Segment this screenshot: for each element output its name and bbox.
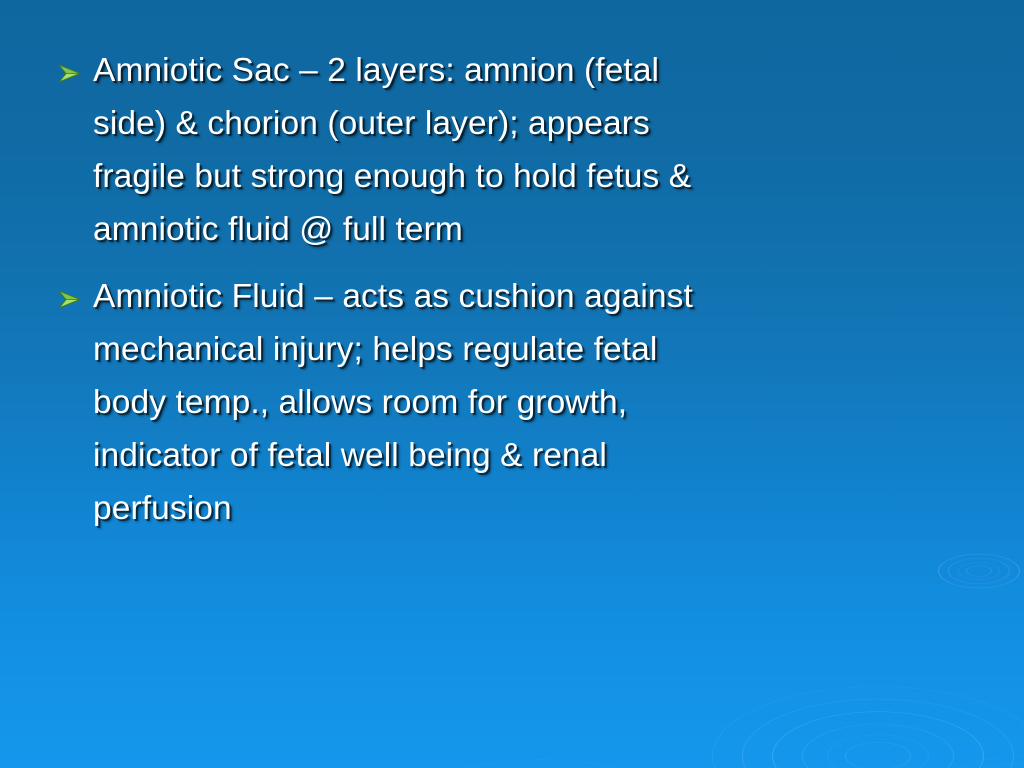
- ripple-ring: [742, 699, 1014, 768]
- list-item: Amniotic Fluid – acts as cushion against…: [55, 270, 955, 535]
- ripple-ring: [958, 562, 1000, 580]
- bullet-text: Amniotic Fluid – acts as cushion against…: [93, 270, 955, 535]
- green-arrowhead-bullet-icon: [55, 44, 93, 88]
- list-item: Amniotic Sac – 2 layers: amnion (fetal s…: [55, 44, 955, 256]
- ripple-ring: [802, 724, 954, 768]
- ripple-ring: [966, 566, 992, 577]
- slide-body: Amniotic Sac – 2 layers: amnion (fetal s…: [55, 44, 955, 549]
- ripple-ring: [938, 554, 1020, 588]
- ripple-ring: [772, 711, 984, 768]
- ripple-ring: [827, 735, 929, 768]
- ripple-ring: [930, 756, 1024, 768]
- bullet-text: Amniotic Sac – 2 layers: amnion (fetal s…: [93, 44, 955, 256]
- ripple-ring: [955, 763, 1024, 768]
- green-arrowhead-bullet-icon: [55, 270, 93, 314]
- ripple-ring: [948, 558, 1010, 584]
- ripple-ring: [712, 686, 1024, 768]
- ripple-ring: [392, 760, 694, 768]
- presentation-slide: Amniotic Sac – 2 layers: amnion (fetal s…: [0, 0, 1024, 768]
- ripple-ring: [845, 742, 911, 768]
